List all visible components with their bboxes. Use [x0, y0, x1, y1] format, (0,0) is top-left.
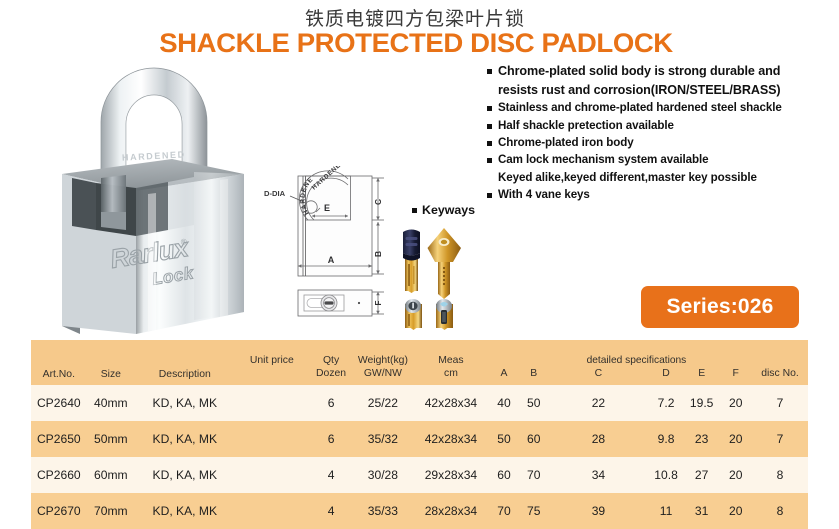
feature-item-text: With 4 vane keys	[498, 187, 590, 202]
feature-item: With 4 vane keys	[487, 187, 839, 202]
bullet-square-icon	[487, 100, 498, 111]
cell-d: 7.2	[648, 385, 684, 421]
label-f: F	[374, 300, 383, 305]
feature-item-text: Half shackle pretection available	[498, 118, 674, 133]
cell-b: 70	[519, 457, 549, 493]
cell-size: 40mm	[87, 385, 135, 421]
th-weight-text: Weight(kg)	[353, 355, 413, 368]
th-description: Description	[135, 340, 235, 385]
cell-disc-no: 7	[752, 385, 808, 421]
cell-b: 75	[519, 493, 549, 529]
feature-list: Chrome-plated solid body is strong durab…	[487, 63, 839, 205]
cell-description: KD, KA, MK	[135, 385, 235, 421]
cell-e: 23	[684, 421, 720, 457]
feature-item-text: Stainless and chrome-plated hardened ste…	[498, 100, 782, 115]
th-b: B	[519, 340, 549, 385]
th-b-text: B	[519, 368, 549, 381]
keyways-heading: Keyways	[412, 203, 475, 217]
table-body: CP264040mmKD, KA, MK625/2242x28x34405022…	[31, 385, 808, 529]
th-qty: Qty Dozen	[309, 340, 353, 385]
cell-meas: 42x28x34	[413, 385, 489, 421]
cell-description: KD, KA, MK	[135, 493, 235, 529]
cell-a: 60	[489, 457, 519, 493]
label-c: C	[373, 199, 383, 205]
th-e-text: E	[684, 368, 720, 381]
table-header: Art.No. Size Description Unit price Qty …	[31, 340, 808, 385]
bullet-square-icon	[487, 135, 498, 146]
cell-disc-no: 8	[752, 457, 808, 493]
th-a: A	[489, 340, 519, 385]
cell-qty: 4	[309, 457, 353, 493]
specification-table: Art.No. Size Description Unit price Qty …	[31, 340, 808, 529]
bullet-square-icon	[487, 152, 498, 163]
cell-e: 31	[684, 493, 720, 529]
cell-f: 20	[719, 493, 752, 529]
cell-qty: 6	[309, 421, 353, 457]
series-badge-label: Series:026	[666, 295, 773, 319]
cell-c: 34	[549, 457, 649, 493]
cell-size: 70mm	[87, 493, 135, 529]
cell-description: KD, KA, MK	[135, 457, 235, 493]
label-d-dia: D-DIA	[264, 189, 286, 198]
th-qty-text: Qty	[309, 355, 353, 368]
cell-a: 40	[489, 385, 519, 421]
table-row: CP266060mmKD, KA, MK430/2829x28x34607034…	[31, 457, 808, 493]
th-f: F	[719, 340, 752, 385]
feature-item: Cam lock mechanism system available	[487, 152, 839, 167]
table-row: CP265050mmKD, KA, MK635/3242x28x34506028…	[31, 421, 808, 457]
feature-item-text: Cam lock mechanism system available	[498, 152, 708, 167]
th-disc-no-text: disc No.	[752, 368, 808, 381]
cell-e: 27	[684, 457, 720, 493]
cell-art-no: CP2650	[31, 421, 87, 457]
bullet-square-icon	[487, 187, 498, 198]
cell-art-no: CP2640	[31, 385, 87, 421]
th-meas: Meas cm	[413, 340, 489, 385]
cell-c: 39	[549, 493, 649, 529]
product-datasheet-page: 铁质电镀四方包梁叶片锁 SHACKLE PROTECTED DISC PADLO…	[0, 0, 839, 508]
bullet-square-icon	[487, 118, 498, 129]
cell-b: 60	[519, 421, 549, 457]
key-profile-right	[436, 299, 453, 330]
cell-disc-no: 8	[752, 493, 808, 529]
cell-qty: 6	[309, 385, 353, 421]
cell-d: 11	[648, 493, 684, 529]
cell-c: 28	[549, 421, 649, 457]
cell-unit-price	[235, 421, 310, 457]
feature-item: Chrome-plated iron body	[487, 135, 839, 150]
series-badge: Series:026	[641, 286, 799, 328]
cell-disc-no: 7	[752, 421, 808, 457]
cell-qty: 4	[309, 493, 353, 529]
cell-size: 60mm	[87, 457, 135, 493]
bullet-square-icon	[412, 208, 417, 213]
feature-item: Half shackle pretection available	[487, 118, 839, 133]
th-art-no: Art.No.	[31, 340, 87, 385]
key-navy-head	[403, 230, 420, 294]
cell-meas: 28x28x34	[413, 493, 489, 529]
table-row: CP264040mmKD, KA, MK625/2242x28x34405022…	[31, 385, 808, 421]
cell-f: 20	[719, 421, 752, 457]
cell-meas: 42x28x34	[413, 421, 489, 457]
bullet-spacer	[487, 82, 498, 93]
cell-b: 50	[519, 385, 549, 421]
feature-item-text: resists rust and corrosion(IRON/STEEL/BR…	[498, 82, 781, 99]
th-detailed-specs: detailed specifications	[587, 355, 687, 368]
bullet-spacer	[487, 170, 498, 181]
product-photo-padlock: HARDENED Rarlux ® Lock	[44, 62, 264, 334]
cell-e: 19.5	[684, 385, 720, 421]
cell-meas: 29x28x34	[413, 457, 489, 493]
cell-f: 20	[719, 457, 752, 493]
cell-art-no: CP2660	[31, 457, 87, 493]
feature-item-text: Keyed alike,keyed different,master key p…	[498, 170, 757, 185]
th-unit-price: Unit price	[235, 340, 310, 385]
feature-item: resists rust and corrosion(IRON/STEEL/BR…	[487, 82, 839, 99]
th-f-text: F	[719, 368, 752, 381]
th-unit-price-text: Unit price	[235, 355, 310, 368]
cell-d: 9.8	[648, 421, 684, 457]
feature-item: Stainless and chrome-plated hardened ste…	[487, 100, 839, 115]
th-size: Size	[87, 340, 135, 385]
th-d-text: D	[648, 368, 684, 381]
key-brass-head	[428, 228, 462, 299]
cell-unit-price	[235, 385, 310, 421]
th-meas-text: Meas	[413, 355, 489, 368]
technical-drawing: D-DIA HARDENE HARDENE E A C	[262, 166, 402, 334]
feature-item: Keyed alike,keyed different,master key p…	[487, 170, 839, 185]
label-b: B	[373, 251, 383, 257]
cell-a: 70	[489, 493, 519, 529]
table-row: CP267070mmKD, KA, MK435/3328x28x34707539…	[31, 493, 808, 529]
keyways-label-text: Keyways	[422, 203, 475, 217]
th-disc-no: disc No.	[752, 340, 808, 385]
th-meas-sub-text: cm	[413, 368, 489, 381]
th-c-text: C	[549, 368, 649, 381]
cell-description: KD, KA, MK	[135, 421, 235, 457]
th-e: E	[684, 340, 720, 385]
page-title-chinese: 铁质电镀四方包梁叶片锁	[0, 4, 830, 31]
cell-weight: 25/22	[353, 385, 413, 421]
cell-unit-price	[235, 493, 310, 529]
label-e: E	[324, 203, 330, 213]
keyways-images	[402, 226, 464, 330]
th-c: detailed specifications C	[549, 340, 649, 385]
feature-item-text: Chrome-plated iron body	[498, 135, 634, 150]
cell-a: 50	[489, 421, 519, 457]
cell-d: 10.8	[648, 457, 684, 493]
cell-c: 22	[549, 385, 649, 421]
cell-weight: 35/32	[353, 421, 413, 457]
th-weight: Weight(kg) GW/NW	[353, 340, 413, 385]
cell-weight: 30/28	[353, 457, 413, 493]
cell-art-no: CP2670	[31, 493, 87, 529]
cell-weight: 35/33	[353, 493, 413, 529]
key-profile-left	[405, 299, 422, 330]
th-a-text: A	[489, 368, 519, 381]
cell-f: 20	[719, 385, 752, 421]
page-title-english: SHACKLE PROTECTED DISC PADLOCK	[0, 28, 839, 58]
th-weight-sub-text: GW/NW	[353, 368, 413, 381]
bullet-square-icon	[487, 63, 498, 74]
feature-item-text: Chrome-plated solid body is strong durab…	[498, 63, 780, 80]
cell-size: 50mm	[87, 421, 135, 457]
feature-item: Chrome-plated solid body is strong durab…	[487, 63, 839, 80]
label-a: A	[328, 255, 335, 265]
cell-unit-price	[235, 457, 310, 493]
th-qty-sub-text: Dozen	[309, 368, 353, 381]
